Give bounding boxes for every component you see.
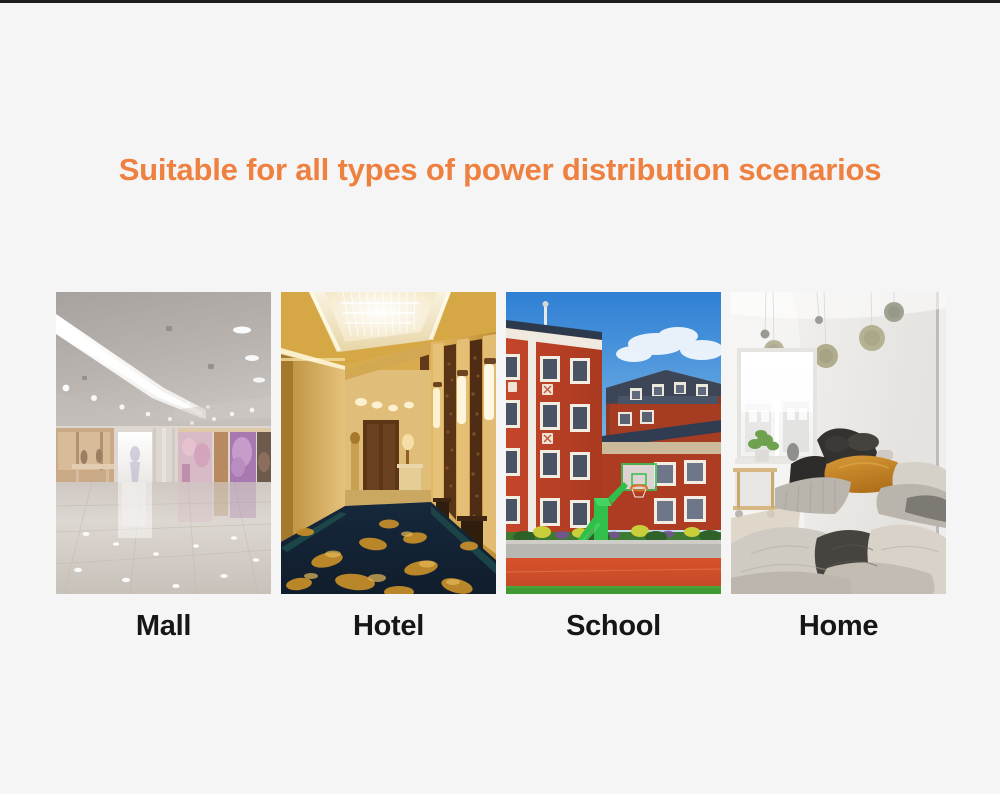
scenario-card-home[interactable]: [731, 292, 946, 594]
shopping-mall-interior-photo: [56, 292, 271, 594]
scenario-label-school: School: [506, 606, 721, 650]
scenario-labels: Mall Hotel School Home: [56, 606, 946, 650]
school-building-photo: [506, 292, 721, 594]
scenario-card-school[interactable]: [506, 292, 721, 594]
living-room-photo: [731, 292, 946, 594]
scenario-label-home: Home: [731, 606, 946, 650]
scenario-label-mall: Mall: [56, 606, 271, 650]
scenario-card-hotel[interactable]: [281, 292, 496, 594]
scenario-gallery: [56, 292, 946, 594]
scenario-label-hotel: Hotel: [281, 606, 496, 650]
top-divider: [0, 0, 1000, 3]
page-title: Suitable for all types of power distribu…: [0, 152, 1000, 188]
scenario-card-mall[interactable]: [56, 292, 271, 594]
hotel-corridor-photo: [281, 292, 496, 594]
